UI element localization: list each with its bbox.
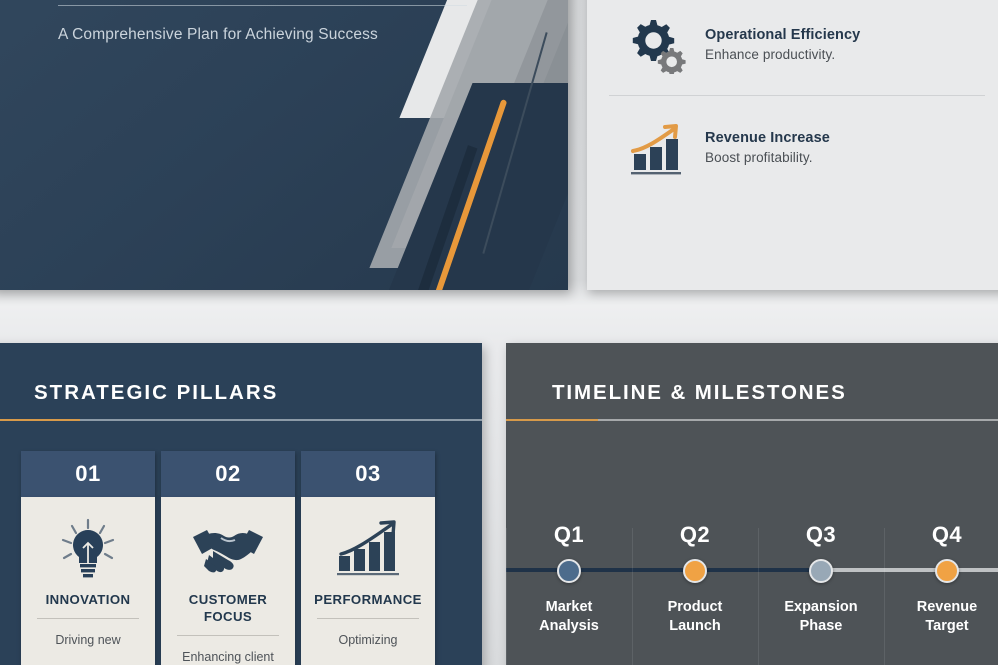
pillar-card-body: CUSTOMER FOCUS Enhancing client xyxy=(161,497,295,665)
bar-chart-arrow-icon xyxy=(313,513,423,585)
strategic-pillars-panel: STRATEGIC PILLARS 01 xyxy=(0,343,482,665)
objective-row-revenue-increase[interactable]: Revenue Increase Boost profitability. xyxy=(609,96,985,199)
pillar-card-innovation[interactable]: 01 xyxy=(21,451,155,665)
title-slide-content: BUSINESS STRATEGY OVERVIEW A Comprehensi… xyxy=(58,0,478,44)
bar-chart-arrow-icon xyxy=(627,118,687,178)
milestone-label: Market Analysis xyxy=(506,598,632,636)
milestone-label-line-2: Analysis xyxy=(506,617,632,636)
slide-deck-canvas: BUSINESS STRATEGY OVERVIEW A Comprehensi… xyxy=(0,0,998,665)
timeline-milestone-q3[interactable]: Q3 Expansion Phase xyxy=(758,493,884,665)
pillar-card-list: 01 xyxy=(21,451,435,665)
pillars-header-rule xyxy=(34,419,482,421)
milestone-label-line-2: Target xyxy=(884,617,998,636)
pillars-heading: STRATEGIC PILLARS xyxy=(34,381,482,405)
milestone-quarter: Q3 xyxy=(758,522,884,548)
objective-text-operational-efficiency: Operational Efficiency Enhance productiv… xyxy=(705,27,979,62)
milestone-quarter: Q1 xyxy=(506,522,632,548)
pillar-divider xyxy=(317,618,419,619)
pillar-divider xyxy=(177,635,279,636)
pillar-number: 01 xyxy=(21,451,155,497)
milestone-dot[interactable] xyxy=(809,559,833,583)
objective-title: Operational Efficiency xyxy=(705,27,979,43)
pillar-title: PERFORMANCE xyxy=(313,591,423,608)
timeline-panel: TIMELINE & MILESTONES Q1 Market Analysis… xyxy=(506,343,998,665)
pillar-title: CUSTOMER FOCUS xyxy=(173,591,283,625)
pillar-card-performance[interactable]: 03 PERFORMANCE xyxy=(301,451,435,665)
timeline-milestone-q4[interactable]: Q4 Revenue Target xyxy=(884,493,998,665)
milestone-dot[interactable] xyxy=(557,559,581,583)
milestone-quarter: Q2 xyxy=(632,522,758,548)
milestone-label-line-1: Product xyxy=(632,598,758,617)
title-slide-panel: BUSINESS STRATEGY OVERVIEW A Comprehensi… xyxy=(0,0,568,290)
slide-subtitle: A Comprehensive Plan for Achieving Succe… xyxy=(58,26,478,44)
timeline-milestone-list: Q1 Market Analysis Q2 Product Launch xyxy=(506,493,998,665)
handshake-icon xyxy=(173,513,283,585)
milestone-label-line-1: Revenue xyxy=(884,598,998,617)
milestone-label: Expansion Phase xyxy=(758,598,884,636)
milestone-label-line-2: Phase xyxy=(758,617,884,636)
timeline-track-area: Q1 Market Analysis Q2 Product Launch xyxy=(506,493,998,665)
milestone-label: Product Launch xyxy=(632,598,758,636)
pillar-number: 03 xyxy=(301,451,435,497)
pillar-desc: Driving new xyxy=(33,632,143,649)
timeline-header: TIMELINE & MILESTONES xyxy=(506,343,998,421)
objective-title: Revenue Increase xyxy=(705,130,979,146)
pillar-desc: Enhancing client xyxy=(173,649,283,665)
milestone-label-line-1: Expansion xyxy=(758,598,884,617)
timeline-header-rule xyxy=(552,419,998,421)
milestone-dot[interactable] xyxy=(683,559,707,583)
pillar-title: INNOVATION xyxy=(33,591,143,608)
pillars-header: STRATEGIC PILLARS xyxy=(0,343,482,421)
pillar-desc: Optimizing xyxy=(313,632,423,649)
pillar-card-body: INNOVATION Driving new xyxy=(21,497,155,665)
milestone-label-line-2: Launch xyxy=(632,617,758,636)
gears-icon xyxy=(627,14,687,74)
pillar-divider xyxy=(37,618,139,619)
lightbulb-icon xyxy=(33,513,143,585)
objective-row-operational-efficiency[interactable]: Operational Efficiency Enhance productiv… xyxy=(609,0,985,96)
milestone-label: Revenue Target xyxy=(884,598,998,636)
pillar-card-body: PERFORMANCE Optimizing xyxy=(301,497,435,665)
pillar-number: 02 xyxy=(161,451,295,497)
timeline-milestone-q2[interactable]: Q2 Product Launch xyxy=(632,493,758,665)
objective-text-revenue-increase: Revenue Increase Boost profitability. xyxy=(705,130,979,165)
milestone-label-line-1: Market xyxy=(506,598,632,617)
milestone-quarter: Q4 xyxy=(884,522,998,548)
objective-desc: Boost profitability. xyxy=(705,150,979,165)
pillar-card-customer-focus[interactable]: 02 xyxy=(161,451,295,665)
milestone-dot[interactable] xyxy=(935,559,959,583)
objectives-panel: Market Growth Expand market presence. xyxy=(587,0,998,290)
timeline-heading: TIMELINE & MILESTONES xyxy=(552,381,998,405)
timeline-milestone-q1[interactable]: Q1 Market Analysis xyxy=(506,493,632,665)
title-divider xyxy=(58,5,467,6)
objective-desc: Enhance productivity. xyxy=(705,47,979,62)
